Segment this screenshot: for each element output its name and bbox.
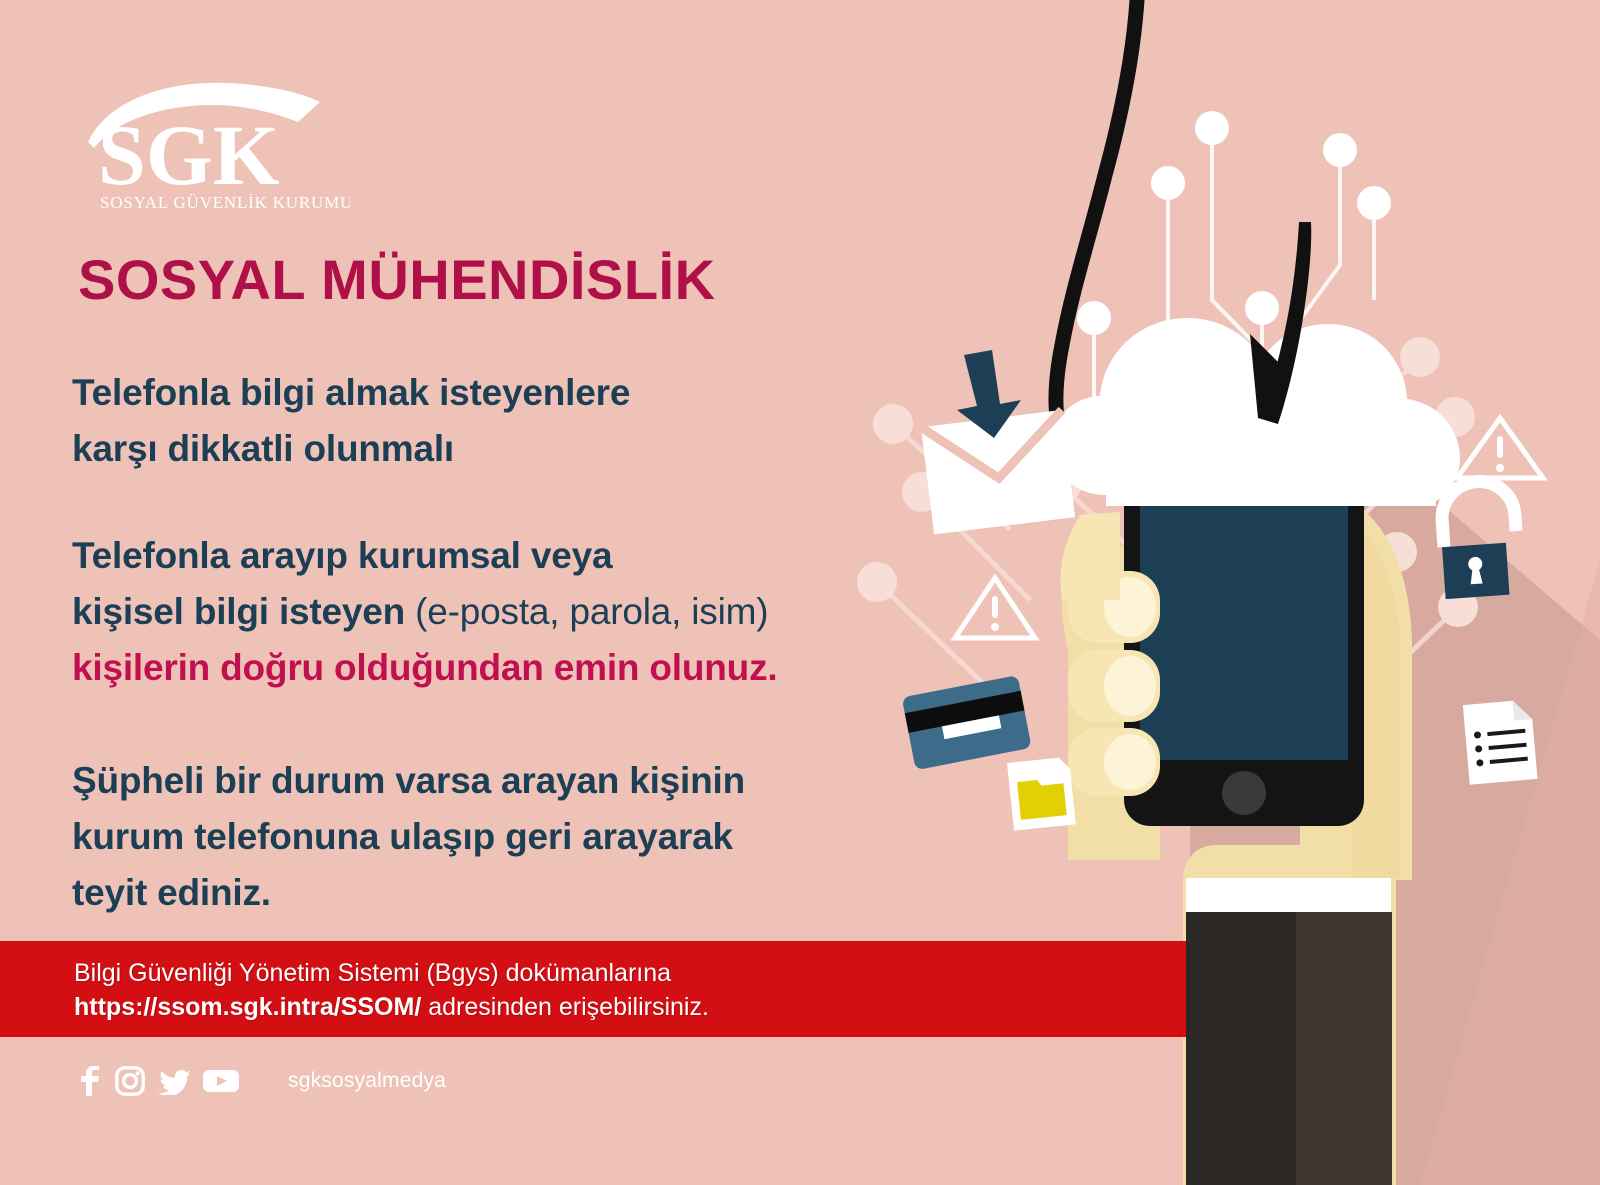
circuit-nodes (1077, 111, 1391, 335)
paragraph-1-line-2: karşı dikkatli olunmalı (72, 421, 630, 477)
paragraph-advice-3: Şüpheli bir durum varsa arayan kişinin k… (72, 753, 745, 922)
social-media-row: sgksosyalmedya (76, 1066, 446, 1096)
hand (1062, 505, 1412, 1185)
circuit-lines (1094, 130, 1374, 470)
warning-triangle (955, 578, 1035, 638)
paragraph-3-line-3: teyit ediniz. (72, 865, 745, 921)
bgys-url-link[interactable]: https://ssom.sgk.intra/SSOM/ (74, 993, 421, 1021)
credit-card (902, 675, 1032, 770)
smartphone (1124, 448, 1364, 826)
paragraph-2-line-2: kişisel bilgi isteyen (e-posta, parola, … (72, 584, 777, 640)
twitter-icon[interactable] (158, 1067, 190, 1095)
paragraph-3-line-2: kurum telefonuna ulaşıp geri arayarak (72, 809, 745, 865)
paragraph-2-line-1: Telefonla arayıp kurumsal veya (72, 528, 777, 584)
warning-triangle-2 (1457, 418, 1543, 478)
footer-line-2-tail: adresinden erişebilirsiniz. (428, 993, 709, 1021)
sgk-logo-wordmark: SGK (98, 107, 280, 203)
footer-line-1: Bilgi Güvenliği Yönetim Sistemi (Bgys) d… (74, 957, 1186, 991)
illustration-shadow (1190, 430, 1600, 1185)
paragraph-advice-1: Telefonla bilgi almak isteyenlere karşı … (72, 365, 630, 477)
page-title: SOSYAL MÜHENDİSLİK (78, 247, 716, 312)
footer-band: Bilgi Güvenliği Yönetim Sistemi (Bgys) d… (0, 941, 1186, 1037)
document-list (1463, 699, 1538, 785)
hook-barb (1250, 222, 1311, 424)
hand-fingers (1061, 512, 1160, 796)
circuit-nodes-faded (857, 337, 1478, 627)
footer-line-2: https://ssom.sgk.intra/SSOM/ adresinden … (74, 991, 1186, 1025)
sgk-logo-subtitle: SOSYAL GÜVENLİK KURUMU (100, 193, 350, 212)
paragraph-2-regular-fragment: (e-posta, parola, isim) (415, 591, 768, 632)
paragraph-1-line-1: Telefonla bilgi almak isteyenlere (72, 365, 630, 421)
fishing-hook (1056, 0, 1176, 479)
envelope (921, 410, 1075, 535)
poster-canvas: SGK SOSYAL GÜVENLİK KURUMU SOSYAL MÜHEND… (0, 0, 1600, 1185)
paragraph-3-line-1: Şüpheli bir durum varsa arayan kişinin (72, 753, 745, 809)
suit-sleeve (1186, 878, 1392, 1185)
facebook-icon[interactable] (76, 1066, 102, 1096)
folder-file (1007, 757, 1076, 831)
social-handle: sgksosyalmedya (288, 1069, 446, 1093)
paragraph-advice-2: Telefonla arayıp kurumsal veya kişisel b… (72, 528, 777, 697)
cloud (1052, 318, 1460, 506)
paragraph-2-bold-fragment: kişisel bilgi isteyen (72, 591, 405, 632)
circuit-lines-faded (880, 360, 1455, 760)
youtube-icon[interactable] (203, 1068, 239, 1094)
shirt-cuff (1186, 878, 1391, 914)
warning-triangle-exclamation (991, 596, 999, 631)
open-padlock (1438, 479, 1521, 599)
download-arrow (957, 350, 1021, 438)
instagram-icon[interactable] (115, 1066, 145, 1096)
warning-triangle-2-exclamation (1496, 436, 1504, 472)
paragraph-2-accent-line: kişilerin doğru olduğundan emin olunuz. (72, 640, 777, 696)
sgk-logo: SGK SOSYAL GÜVENLİK KURUMU (82, 78, 350, 214)
